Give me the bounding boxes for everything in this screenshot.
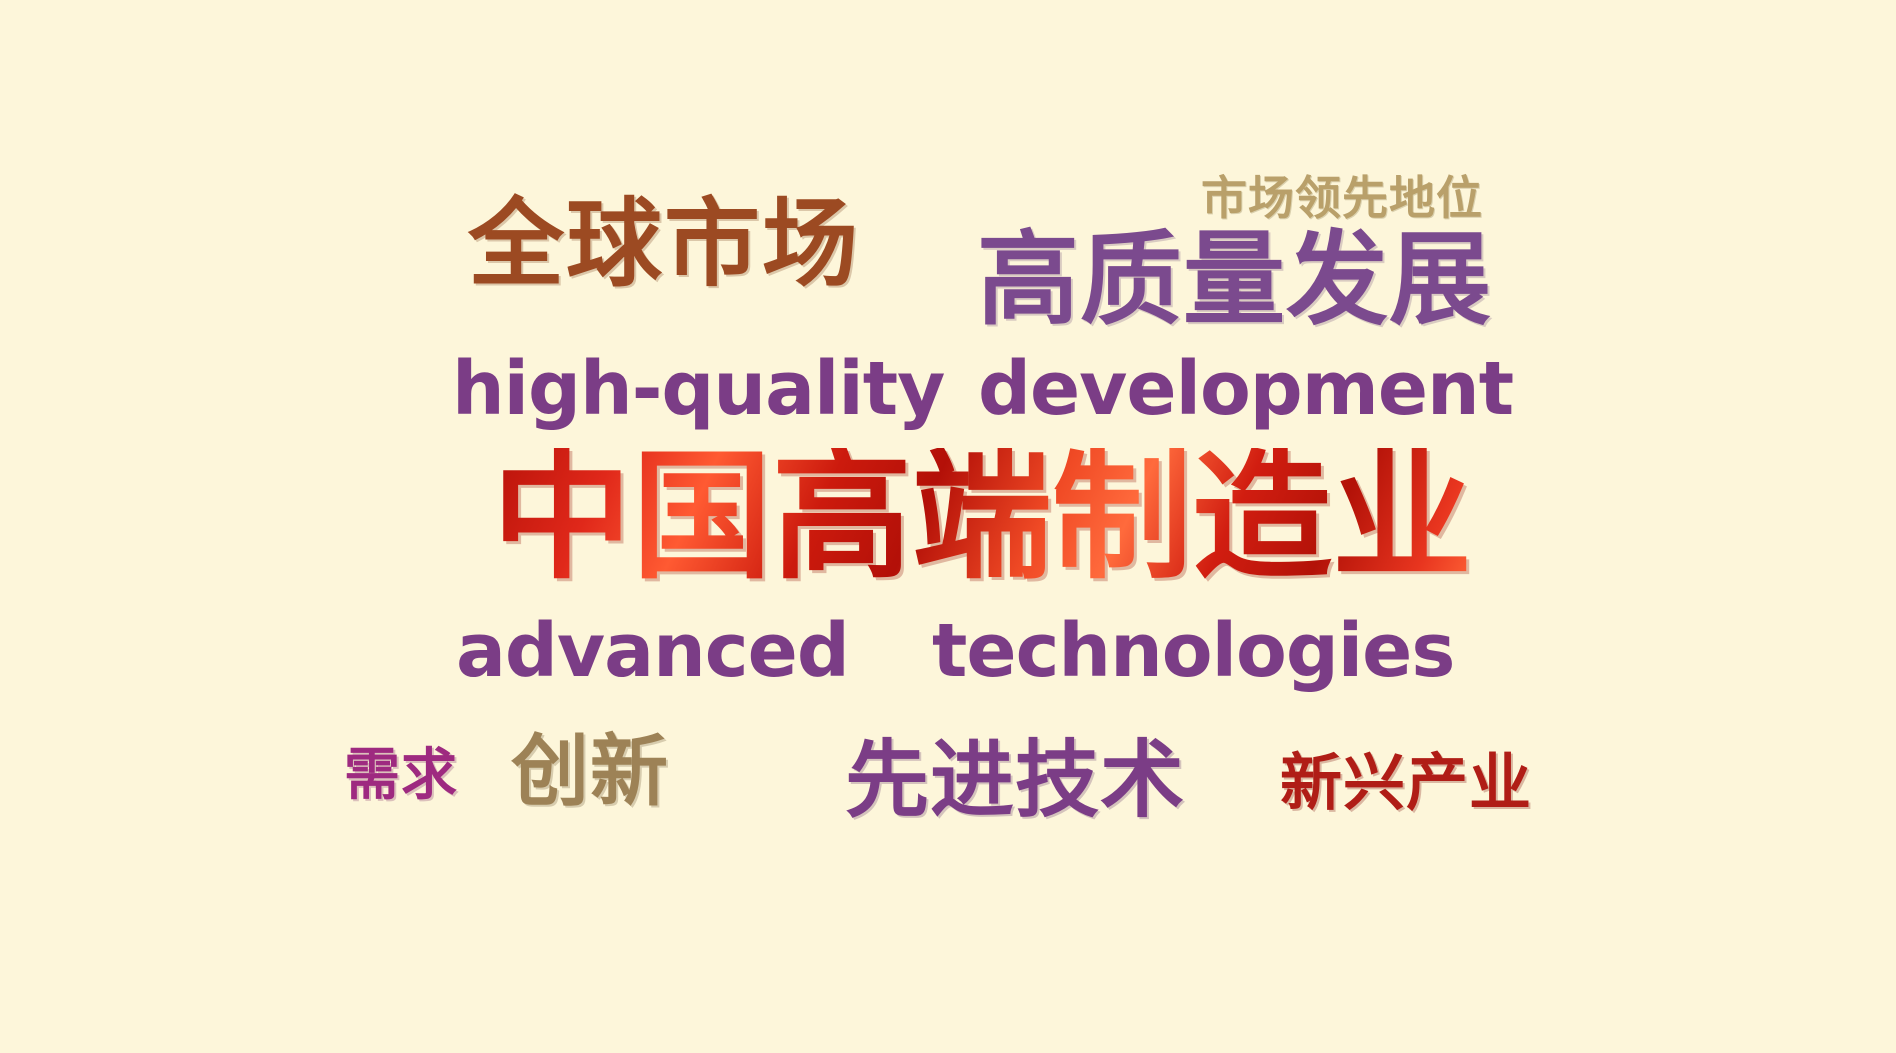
word-innovation: 创新: [511, 733, 669, 811]
word-advanced: advanced: [456, 614, 849, 688]
wordcloud-canvas: 市场领先地位 全球市场 高质量发展 high-quality developme…: [0, 0, 1896, 1053]
word-development: development: [978, 352, 1513, 426]
word-high-quality-development-cn: 高质量发展: [977, 230, 1492, 332]
word-emerging-industry: 新兴产业: [1280, 752, 1532, 814]
word-technologies: technologies: [932, 614, 1454, 688]
word-china-high-end-manufacturing: 中国高端制造业: [492, 448, 1472, 588]
word-high-quality: high-quality: [452, 352, 944, 426]
word-advanced-technology-cn: 先进技术: [845, 738, 1185, 822]
word-demand: 需求: [344, 748, 458, 804]
word-market-leading-position: 市场领先地位: [1201, 175, 1483, 221]
word-global-market: 全球市场: [468, 196, 860, 292]
